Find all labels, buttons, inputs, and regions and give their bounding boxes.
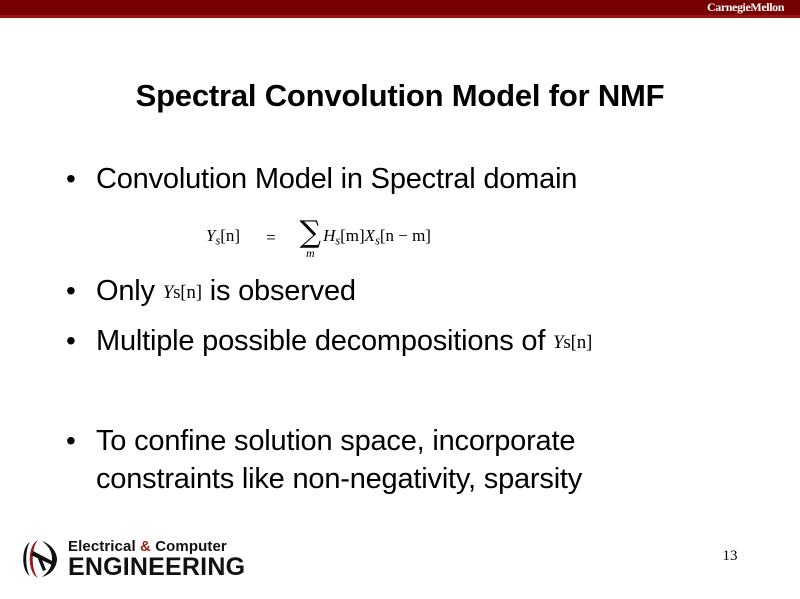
equation-term2-var: X	[365, 226, 375, 245]
equation-lhs-index: [n]	[220, 226, 240, 245]
ece-logo-text: Electrical & Computer ENGINEERING	[68, 539, 245, 580]
equation-lhs: Ys[n]	[206, 226, 240, 248]
inline-math-var: Y	[163, 282, 173, 303]
bullet-2-text-before: Only	[96, 275, 155, 307]
bullet-item-1: • Convolution Model in Spectral domain	[66, 160, 766, 198]
inline-math-sub: s	[563, 332, 570, 353]
summation-index: m	[306, 247, 315, 259]
bullet-marker-icon: •	[66, 272, 96, 310]
summation-symbol: ∑ m	[300, 220, 321, 259]
bullet-text-4: To confine solution space, incorporate c…	[96, 422, 766, 498]
inline-math-index: [n]	[571, 332, 593, 353]
display-equation: Ys[n] = ∑ m Hs[m] Xs[n − m]	[206, 218, 431, 257]
bullet-marker-icon: •	[66, 422, 96, 460]
bullet-item-3: • Multiple possible decompositions of Ys…	[66, 322, 766, 364]
bullet-marker-icon: •	[66, 160, 96, 198]
sigma-icon: ∑	[300, 220, 321, 246]
equation-term1-index: [m]	[340, 226, 365, 245]
bullet-item-4: • To confine solution space, incorporate…	[66, 422, 766, 498]
inline-math-var: Y	[553, 332, 563, 353]
equation-relation: =	[266, 228, 276, 248]
bullet-marker-icon: •	[66, 322, 96, 360]
ece-logo-ampersand: &	[140, 538, 151, 555]
bullet-4-line-1: To confine solution space, incorporate	[96, 425, 575, 457]
bullet-2-text-after: is observed	[210, 275, 356, 307]
ece-logo-line-1: Electrical & Computer	[68, 539, 245, 554]
slide: CarnegieMellon Spectral Convolution Mode…	[0, 0, 800, 599]
page-number: 13	[710, 548, 750, 565]
ece-logo-electrical: Electrical	[68, 538, 140, 555]
equation-term2-index: [n − m]	[380, 226, 431, 245]
page-title: Spectral Convolution Model for NMF	[0, 78, 800, 114]
header-rule	[0, 15, 800, 18]
bullet-item-2: • Only Ys[n] is observed	[66, 272, 766, 314]
ece-logo: Electrical & Computer ENGINEERING	[16, 538, 245, 580]
equation-term-2: Xs[n − m]	[365, 226, 431, 248]
bullet-text-2: Only Ys[n] is observed	[96, 272, 766, 314]
equation-term-1: Hs[m]	[323, 226, 365, 248]
bullet-3-text-before: Multiple possible decompositions of	[96, 325, 545, 357]
ece-logo-line-2: ENGINEERING	[68, 555, 245, 580]
equation-term1-var: H	[323, 226, 335, 245]
bullet-text-1: Convolution Model in Spectral domain	[96, 160, 766, 198]
ece-logo-mark	[16, 538, 62, 580]
inline-math-ysn: Ys[n]	[553, 332, 592, 353]
bullet-4-line-2: constraints like non-negativity, sparsit…	[96, 463, 582, 495]
header-bar	[0, 0, 800, 15]
bullet-text-3: Multiple possible decompositions of Ys[n…	[96, 322, 766, 364]
ece-logo-computer: Computer	[151, 538, 227, 555]
inline-math-ysn: Ys[n]	[163, 282, 202, 303]
carnegie-mellon-wordmark: CarnegieMellon	[707, 0, 784, 15]
inline-math-index: [n]	[180, 282, 202, 303]
